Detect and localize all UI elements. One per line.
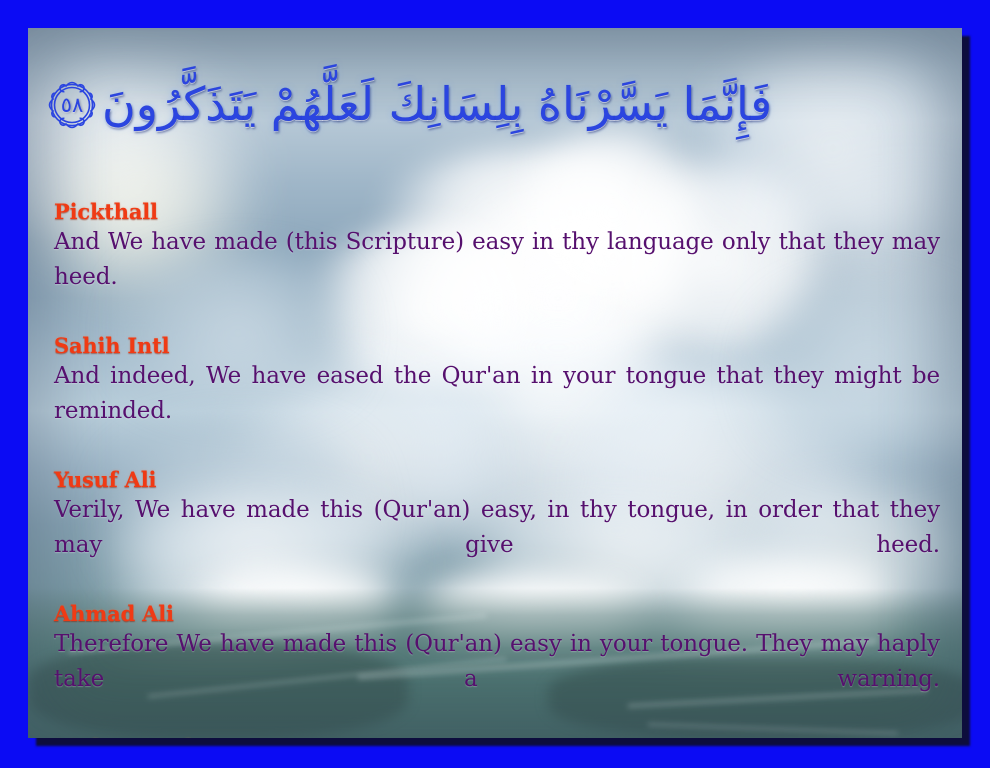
translation-text: Therefore We have made this (Qur'an) eas…: [54, 627, 940, 732]
translator-name: Ahmad Ali: [54, 600, 940, 627]
translator-name: Yusuf Ali: [54, 466, 940, 493]
photo-card: فَإِنَّمَا يَسَّرْنَاهُ بِلِسَانِكَ لَعَ…: [28, 28, 962, 738]
translations-list: Pickthall And We have made (this Scriptu…: [54, 198, 940, 738]
translation-block-muhammad-sarwar: Muhammad Sarwar We have made the Quran e…: [54, 734, 940, 738]
ayah-number-label: ٥٨: [44, 77, 100, 133]
translation-block-yusuf-ali: Yusuf Ali Verily, We have made this (Qur…: [54, 466, 940, 598]
outer-blue-frame: فَإِنَّمَا يَسَّرْنَاهُ بِلِسَانِكَ لَعَ…: [0, 0, 990, 768]
translation-text: Verily, We have made this (Qur'an) easy,…: [54, 493, 940, 598]
translator-name: Muhammad Sarwar: [54, 734, 940, 738]
translator-name: Pickthall: [54, 198, 940, 225]
translation-block-pickthall: Pickthall And We have made (this Scriptu…: [54, 198, 940, 330]
ayah-ornament-icon: ٥٨: [44, 77, 100, 133]
ayah-row: فَإِنَّمَا يَسَّرْنَاهُ بِلِسَانِكَ لَعَ…: [28, 62, 962, 148]
translation-block-sahih-intl: Sahih Intl And indeed, We have eased the…: [54, 332, 940, 464]
translation-text: And We have made (this Scripture) easy i…: [54, 225, 940, 330]
translation-text: And indeed, We have eased the Qur'an in …: [54, 359, 940, 464]
translation-block-ahmad-ali: Ahmad Ali Therefore We have made this (Q…: [54, 600, 940, 732]
ayah-arabic-text: فَإِنَّمَا يَسَّرْنَاهُ بِلِسَانِكَ لَعَ…: [102, 76, 772, 134]
translator-name: Sahih Intl: [54, 332, 940, 359]
